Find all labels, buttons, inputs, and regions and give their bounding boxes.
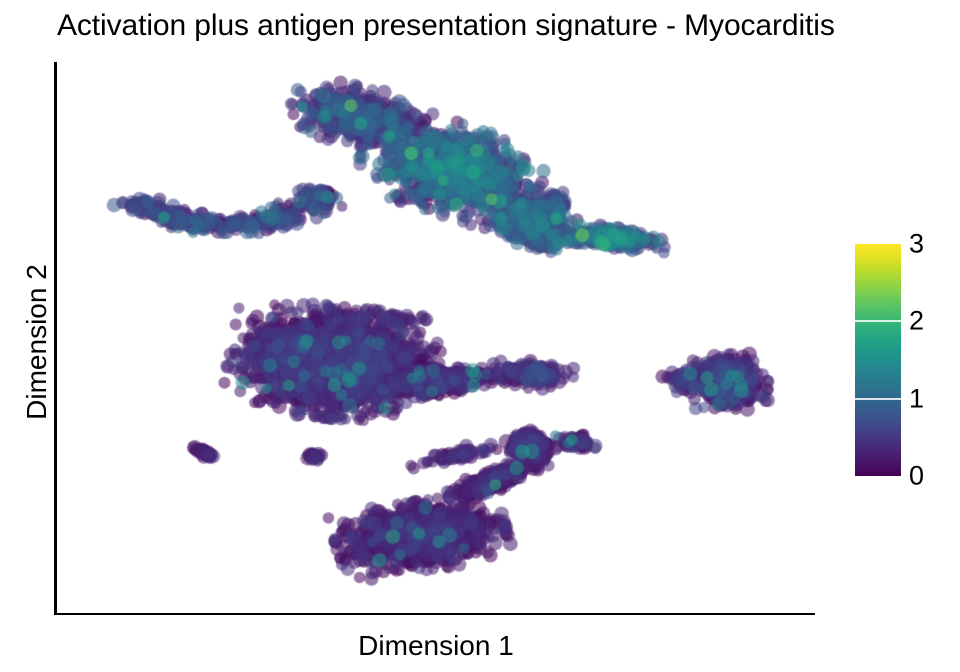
plot-panel bbox=[57, 62, 815, 613]
colorbar-tick-label: 1 bbox=[909, 385, 924, 412]
page-title: Activation plus antigen presentation sig… bbox=[57, 6, 960, 46]
colorbar-gradient bbox=[855, 244, 901, 476]
colorbar-tick-label: 0 bbox=[909, 463, 924, 490]
y-axis-label: Dimension 2 bbox=[19, 62, 55, 622]
colorbar-tickmark bbox=[855, 398, 901, 400]
colorbar-tick-label: 2 bbox=[909, 308, 924, 335]
x-axis-label: Dimension 1 bbox=[57, 628, 815, 664]
figure-root: Activation plus antigen presentation sig… bbox=[0, 0, 960, 672]
colorbar-legend: 3210 bbox=[855, 244, 955, 476]
colorbar-tick-label: 3 bbox=[909, 231, 924, 258]
scatter-plot-canvas bbox=[57, 62, 815, 613]
colorbar-tickmark bbox=[855, 320, 901, 322]
